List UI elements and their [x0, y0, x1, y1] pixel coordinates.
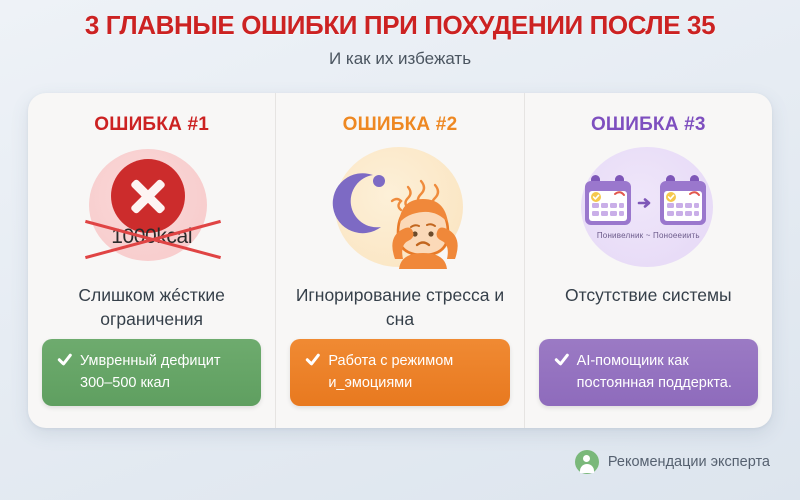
page-title: 3 ГЛАВНЫЕ ОШИБКИ ПРИ ПОХУДЕНИИ ПОСЛЕ 35 — [0, 8, 800, 42]
infographic-page: 3 ГЛАВНЫЕ ОШИБКИ ПРИ ПОХУДЕНИИ ПОСЛЕ 35 … — [0, 0, 800, 500]
two-calendars-icon — [563, 147, 733, 269]
page-subtitle: И как их избежать — [0, 48, 800, 70]
crossed-kcal-group: 1000kcal — [67, 219, 237, 259]
solution-pill-3: AI-помощиик как постоянная поддеркта. — [539, 339, 758, 406]
calendar-caption: Понивелник ~ Поноееиить — [563, 231, 733, 240]
check-icon — [56, 353, 72, 369]
solution-text-1: Умвренный дефицит 300–500 ккал — [80, 350, 247, 394]
check-icon — [304, 353, 320, 369]
person-avatar-icon — [575, 450, 599, 474]
card-badge-1: ОШИБКА #1 — [94, 113, 209, 137]
mistake-card-1: ОШИБКА #1 1000kcal Слишком жéсткие огран… — [28, 93, 275, 428]
illustration-1: 1000kcal — [67, 147, 237, 269]
illustration-2 — [315, 147, 485, 269]
solution-pill-1: Умвренный дефицит 300–500 ккал — [42, 339, 261, 406]
header: 3 ГЛАВНЫЕ ОШИБКИ ПРИ ПОХУДЕНИИ ПОСЛЕ 35 … — [0, 8, 800, 70]
card-badge-2: ОШИБКА #2 — [343, 113, 458, 137]
mistake-card-3: ОШИБКА #3 — [524, 93, 772, 428]
mistake-card-2: ОШИБКА #2 — [275, 93, 523, 428]
card-description-3: Отсутствие системы — [565, 283, 732, 307]
solution-text-3: AI-помощиик как постоянная поддеркта. — [577, 350, 744, 394]
solution-pill-2: Работа с режимом и_эмоциями — [290, 339, 509, 406]
card-badge-3: ОШИБКА #3 — [591, 113, 706, 137]
cards-panel: ОШИБКА #1 1000kcal Слишком жéсткие огран… — [28, 93, 772, 428]
card-description-2: Игнорирование стресса и сна — [292, 283, 507, 331]
card-description-1: Слишком жéсткие ограничения — [44, 283, 259, 331]
solution-text-2: Работа с режимом и_эмоциями — [328, 350, 495, 394]
moon-and-stressed-person-icon — [315, 147, 485, 269]
footer-label: Рекомендации эксперта — [608, 454, 770, 470]
footer: Рекомендации эксперта — [575, 450, 770, 474]
check-icon — [553, 353, 569, 369]
illustration-3: Понивелник ~ Поноееиить — [563, 147, 733, 269]
